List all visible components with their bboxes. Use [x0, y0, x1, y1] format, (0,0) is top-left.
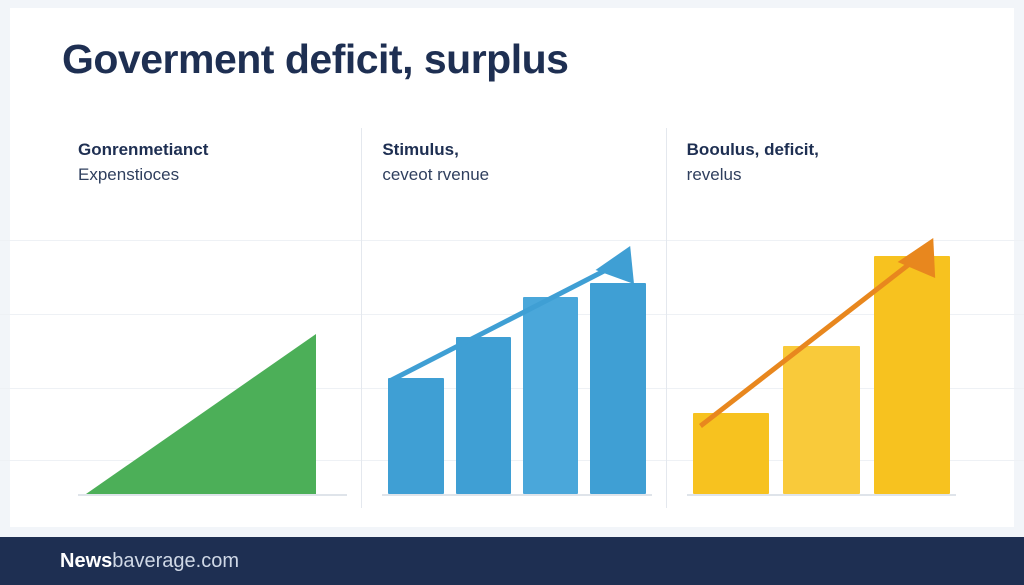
chart-panel-1: Gonrenmetianct Expenstioces	[58, 128, 361, 508]
panel-1-area-series	[86, 334, 316, 494]
bar	[874, 256, 950, 494]
chart-panel-3: Booulus, deficit, revelus	[666, 128, 970, 508]
panel-1-label-line1: Gonrenmetianct	[78, 140, 208, 159]
bar	[590, 283, 645, 494]
footer-bar: Newsbaverage.com	[0, 537, 1024, 585]
panel-1-baseline	[78, 494, 347, 496]
chart-canvas: Goverment deficit, surplus Gonrenmetianc…	[0, 0, 1024, 585]
panel-1-plot	[78, 226, 347, 496]
canvas-top-margin	[0, 0, 1024, 8]
panel-3-baseline	[687, 494, 956, 496]
footer-watermark: Newsbaverage.com	[60, 550, 239, 573]
bar	[388, 378, 443, 494]
panel-2-label: Stimulus, ceveot rvenue	[382, 138, 632, 187]
panel-1-label: Gonrenmetianct Expenstioces	[78, 138, 328, 187]
footer-domain: baverage.com	[112, 550, 239, 572]
green-ramp-shape	[86, 334, 316, 494]
footer-accent-band	[0, 527, 1024, 537]
panel-1-label-line2: Expenstioces	[78, 163, 328, 188]
chart-panel-2: Stimulus, ceveot rvenue	[361, 128, 665, 508]
bar	[693, 413, 769, 494]
page-title: Goverment deficit, surplus	[62, 36, 568, 83]
panel-3-label-line2: revelus	[687, 163, 937, 188]
bar	[783, 346, 859, 495]
panel-3-label: Booulus, deficit, revelus	[687, 138, 937, 187]
canvas-right-margin	[1014, 0, 1024, 585]
bar	[523, 297, 578, 494]
bar	[456, 337, 511, 494]
footer-brand: News	[60, 550, 112, 572]
panel-2-label-line1: Stimulus,	[382, 140, 459, 159]
panel-2-baseline	[382, 494, 651, 496]
panel-3-bar-series	[693, 224, 950, 494]
canvas-left-margin	[0, 0, 10, 585]
panel-2-label-line2: ceveot rvenue	[382, 163, 632, 188]
panel-2-plot	[382, 226, 651, 496]
panel-3-label-line1: Booulus, deficit,	[687, 140, 819, 159]
panel-2-bar-series	[388, 224, 645, 494]
chart-panels: Gonrenmetianct Expenstioces Stimulus, ce…	[58, 128, 970, 508]
panel-3-plot	[687, 226, 956, 496]
